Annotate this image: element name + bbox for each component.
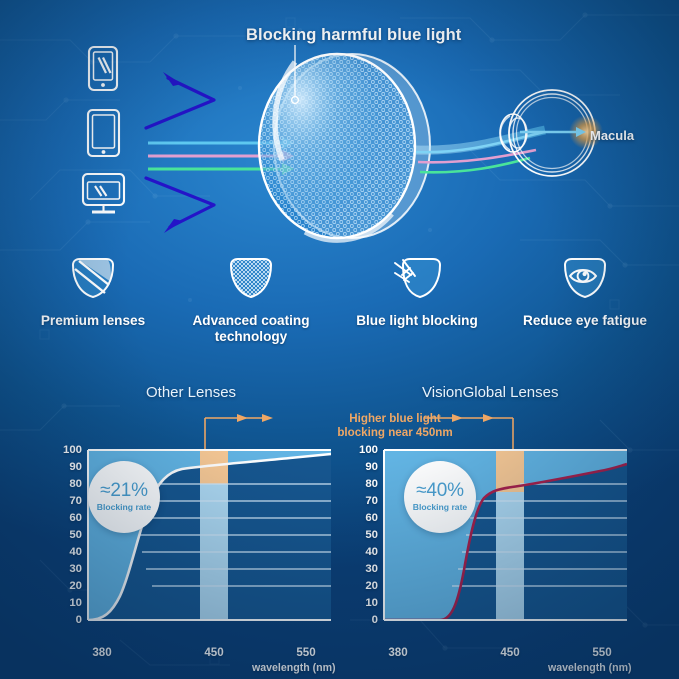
feature-label: Reduce eye fatigue [500,313,670,329]
blocking-rate-value: ≈21% [100,481,148,500]
blocking-rate-badge-right: ≈40% Blocking rate [404,461,476,533]
hero-illustration: Blocking harmful blue light Macula [0,0,679,248]
blocking-rate-caption: Blocking rate [413,503,467,512]
macula-label: Macula [590,128,634,143]
y-tick: 40 [69,546,82,558]
x-axis-caption: wavelength (nm) [548,662,632,674]
y-tick: 100 [63,444,82,456]
y-tick: 70 [69,495,82,507]
y-axis-left: 100 90 80 70 60 50 40 30 20 10 0 [48,450,82,620]
y-tick: 10 [69,597,82,609]
lens-shine-icon [8,250,178,308]
y-tick: 80 [69,478,82,490]
charts-vector-layer [0,374,679,679]
y-tick: 20 [69,580,82,592]
blocked-blue-rays [146,78,214,227]
x-tick: 380 [92,646,111,659]
feature-label: Premium lenses [8,313,178,329]
feature-label: Advanced coating technology [166,313,336,345]
x-tick: 450 [500,646,519,659]
x-tick: 550 [592,646,611,659]
monitor-icon [83,174,124,212]
phone-icon [89,47,117,90]
y-tick: 100 [359,444,378,456]
y-tick: 80 [365,478,378,490]
feature-reduce-eye-fatigue[interactable]: Reduce eye fatigue [500,250,670,329]
x-tick: 550 [296,646,315,659]
y-tick: 60 [365,512,378,524]
x-tick: 450 [204,646,223,659]
x-tick: 380 [388,646,407,659]
lens-mesh-icon [166,250,336,308]
y-tick: 50 [365,529,378,541]
lens-eye-icon [500,250,670,308]
feature-advanced-coating[interactable]: Advanced coating technology [166,250,336,345]
y-tick: 90 [69,461,82,473]
blocking-rate-value: ≈40% [416,481,464,500]
feature-premium-lenses[interactable]: Premium lenses [8,250,178,329]
infographic-canvas: Blocking harmful blue light Macula Premi… [0,0,679,679]
blocked-ray-arrowheads [163,72,183,233]
feature-row: Premium lenses [0,250,679,356]
lens-block-icon [332,250,502,308]
y-tick: 60 [69,512,82,524]
y-tick: 0 [76,614,82,626]
hero-title: Blocking harmful blue light [246,26,486,45]
chart-title-visionglobal-lenses: VisionGlobal Lenses [422,384,558,401]
y-axis-right: 100 90 80 70 60 50 40 30 20 10 0 [344,450,378,620]
y-tick: 40 [365,546,378,558]
y-tick: 50 [69,529,82,541]
y-tick: 30 [365,563,378,575]
y-tick: 70 [365,495,378,507]
x-axis-caption: wavelength (nm) [252,662,336,674]
blocking-rate-badge-left: ≈21% Blocking rate [88,461,160,533]
tablet-icon [88,110,119,156]
feature-label: Blue light blocking [332,313,502,329]
y-tick: 30 [69,563,82,575]
y-tick: 90 [365,461,378,473]
y-tick: 20 [365,580,378,592]
y-tick: 10 [365,597,378,609]
y-tick: 0 [372,614,378,626]
blocking-rate-caption: Blocking rate [97,503,151,512]
feature-blue-light-blocking[interactable]: Blue light blocking [332,250,502,329]
